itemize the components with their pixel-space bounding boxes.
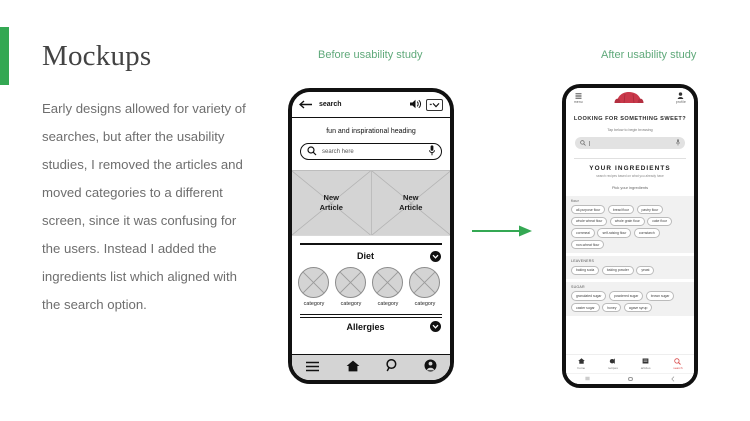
search-icon	[580, 140, 586, 147]
bottom-navigation	[292, 354, 450, 380]
category-item[interactable]: category	[298, 267, 330, 307]
recipes-icon	[609, 358, 616, 364]
nav-item-home[interactable]: home	[577, 358, 585, 369]
menu-label: menu	[574, 100, 583, 104]
section-title: Allergies	[346, 322, 384, 332]
category-label: category	[298, 301, 330, 307]
back-arrow-icon[interactable]	[299, 96, 313, 114]
category-thumb	[409, 267, 440, 298]
category-label: category	[372, 301, 404, 307]
transition-arrow	[472, 224, 532, 238]
phone-before-usability: search ▪▪ fun and inspirational heading …	[288, 88, 454, 384]
ingredient-chip[interactable]: whole wheat flour	[571, 217, 607, 226]
category-thumb	[298, 267, 329, 298]
nav-label: recipes	[608, 366, 618, 370]
chip-list: granulated sugar powdered sugar brown su…	[571, 291, 689, 312]
text-column: Mockups Early designs allowed for variet…	[42, 40, 247, 319]
nav-item-recipes[interactable]: recipes	[608, 358, 618, 369]
home-icon	[578, 358, 585, 364]
nav-item-articles[interactable]: articles	[641, 358, 651, 369]
ingredient-chip[interactable]: powdered sugar	[609, 291, 643, 300]
article-placeholder[interactable]: NewArticle	[292, 171, 371, 235]
microphone-icon[interactable]	[676, 139, 680, 147]
ingredient-chip[interactable]: self-raising flour	[597, 228, 631, 237]
chip-list: all-purpose flour bread flour pastry flo…	[571, 205, 689, 249]
header-actions: ▪▪	[410, 96, 443, 114]
category-item[interactable]: category	[335, 267, 367, 307]
profile-label: profile	[676, 100, 686, 104]
article-label: NewArticle	[320, 193, 343, 213]
header-title: search	[319, 101, 342, 108]
ingredient-group-leaveners: LEAVENERS baking soda baking powder yeas…	[566, 256, 694, 279]
app-topbar: menu profile	[566, 88, 694, 110]
ingredient-chip[interactable]: baking soda	[571, 266, 599, 275]
phone-after-usability: menu profile LOOKING FOR SOMETHING SWEET…	[562, 84, 698, 388]
home-circle-icon[interactable]	[628, 377, 633, 382]
hamburger-menu-icon	[575, 93, 582, 99]
nav-item-search[interactable]: search	[673, 358, 682, 370]
section-title: Diet	[357, 251, 374, 261]
group-label: SUGAR	[571, 285, 689, 289]
ingredient-chip[interactable]: cornstarch	[634, 228, 660, 237]
ingredient-chip[interactable]: cake flour	[647, 217, 672, 226]
ingredient-chip[interactable]: bread flour	[608, 205, 634, 214]
category-item[interactable]: category	[409, 267, 441, 307]
ingredient-chip[interactable]: whole grain flour	[610, 217, 645, 226]
menu-icon[interactable]	[305, 359, 320, 377]
ingredient-chip[interactable]: caster sugar	[571, 303, 600, 312]
article-placeholders: NewArticle NewArticle	[292, 170, 450, 236]
chevron-down-icon[interactable]	[430, 251, 441, 262]
home-icon[interactable]	[346, 359, 360, 377]
ingredient-chip[interactable]: honey	[602, 303, 621, 312]
caption-before: Before usability study	[318, 49, 423, 61]
search-icon	[307, 143, 317, 161]
category-list: category category category category	[292, 267, 450, 307]
nav-label: search	[673, 366, 682, 370]
body-paragraph: Early designs allowed for variety of sea…	[42, 95, 247, 319]
menu-button[interactable]: menu	[574, 93, 583, 104]
bottom-navigation: home recipes articles search	[566, 354, 694, 373]
back-icon[interactable]	[671, 376, 675, 383]
ingredient-chip[interactable]: brown sugar	[646, 291, 675, 300]
article-label: NewArticle	[399, 193, 422, 213]
ingredient-chip[interactable]: granulated sugar	[571, 291, 606, 300]
chevron-down-icon[interactable]: ▪▪	[426, 99, 443, 111]
category-thumb	[372, 267, 403, 298]
hero-title: LOOKING FOR SOMETHING SWEET?	[566, 110, 694, 128]
ingredient-chip[interactable]: baking powder	[602, 266, 634, 275]
ingredients-subtitle: search recipes based on what you already…	[566, 174, 694, 178]
profile-icon[interactable]	[424, 359, 437, 377]
hero-subtitle: Tap below to begin browsing	[566, 128, 694, 137]
ingredient-chip[interactable]: agave syrup	[624, 303, 652, 312]
text-cursor	[589, 141, 590, 146]
recents-icon[interactable]	[585, 376, 590, 382]
category-label: category	[335, 301, 367, 307]
nav-label: articles	[641, 366, 651, 370]
category-item[interactable]: category	[372, 267, 404, 307]
search-placeholder: search here	[322, 149, 354, 155]
search-icon	[674, 358, 681, 365]
section-diet[interactable]: Diet	[292, 245, 450, 267]
section-allergies[interactable]: Allergies	[292, 315, 450, 337]
chevron-down-icon[interactable]	[430, 321, 441, 332]
system-navigation-bar	[566, 373, 694, 384]
croissant-logo-icon	[614, 91, 644, 105]
divider	[574, 158, 686, 159]
group-label: LEAVENERS	[571, 259, 689, 263]
articles-icon	[642, 358, 649, 364]
accent-bar	[0, 27, 9, 85]
profile-icon	[677, 92, 684, 99]
ingredient-chip[interactable]: all-purpose flour	[571, 205, 605, 214]
search-input[interactable]	[575, 137, 685, 149]
microphone-icon[interactable]	[429, 143, 435, 161]
profile-button[interactable]: profile	[676, 92, 686, 104]
ingredient-group-flour: flour all-purpose flour bread flour past…	[566, 196, 694, 254]
group-label: flour	[571, 199, 689, 203]
article-placeholder[interactable]: NewArticle	[371, 171, 451, 235]
hero-heading: fun and inspirational heading	[292, 118, 450, 143]
category-label: category	[409, 301, 441, 307]
ingredient-chip[interactable]: pastry flour	[637, 205, 664, 214]
speaker-icon[interactable]	[410, 96, 422, 114]
search-icon[interactable]	[386, 359, 398, 377]
ingredient-chip[interactable]: non-wheat flour	[571, 240, 604, 249]
nav-label: home	[577, 366, 585, 370]
ingredient-group-sugar: SUGAR granulated sugar powdered sugar br…	[566, 282, 694, 316]
ingredient-chip[interactable]: yeast	[636, 266, 654, 275]
before-screen: search ▪▪ fun and inspirational heading …	[292, 92, 450, 380]
page-title: Mockups	[42, 40, 247, 73]
caption-after: After usability study	[601, 49, 696, 61]
ingredient-chip[interactable]: cornmeal	[571, 228, 595, 237]
wireframe-header: search ▪▪	[292, 92, 450, 118]
chip-list: baking soda baking powder yeast	[571, 266, 689, 275]
category-thumb	[335, 267, 366, 298]
after-screen: menu profile LOOKING FOR SOMETHING SWEET…	[566, 88, 694, 384]
pick-ingredients-label: Pick your ingredients	[566, 185, 694, 190]
search-input[interactable]: search here	[300, 143, 442, 160]
ingredients-title: YOUR INGREDIENTS	[566, 165, 694, 172]
